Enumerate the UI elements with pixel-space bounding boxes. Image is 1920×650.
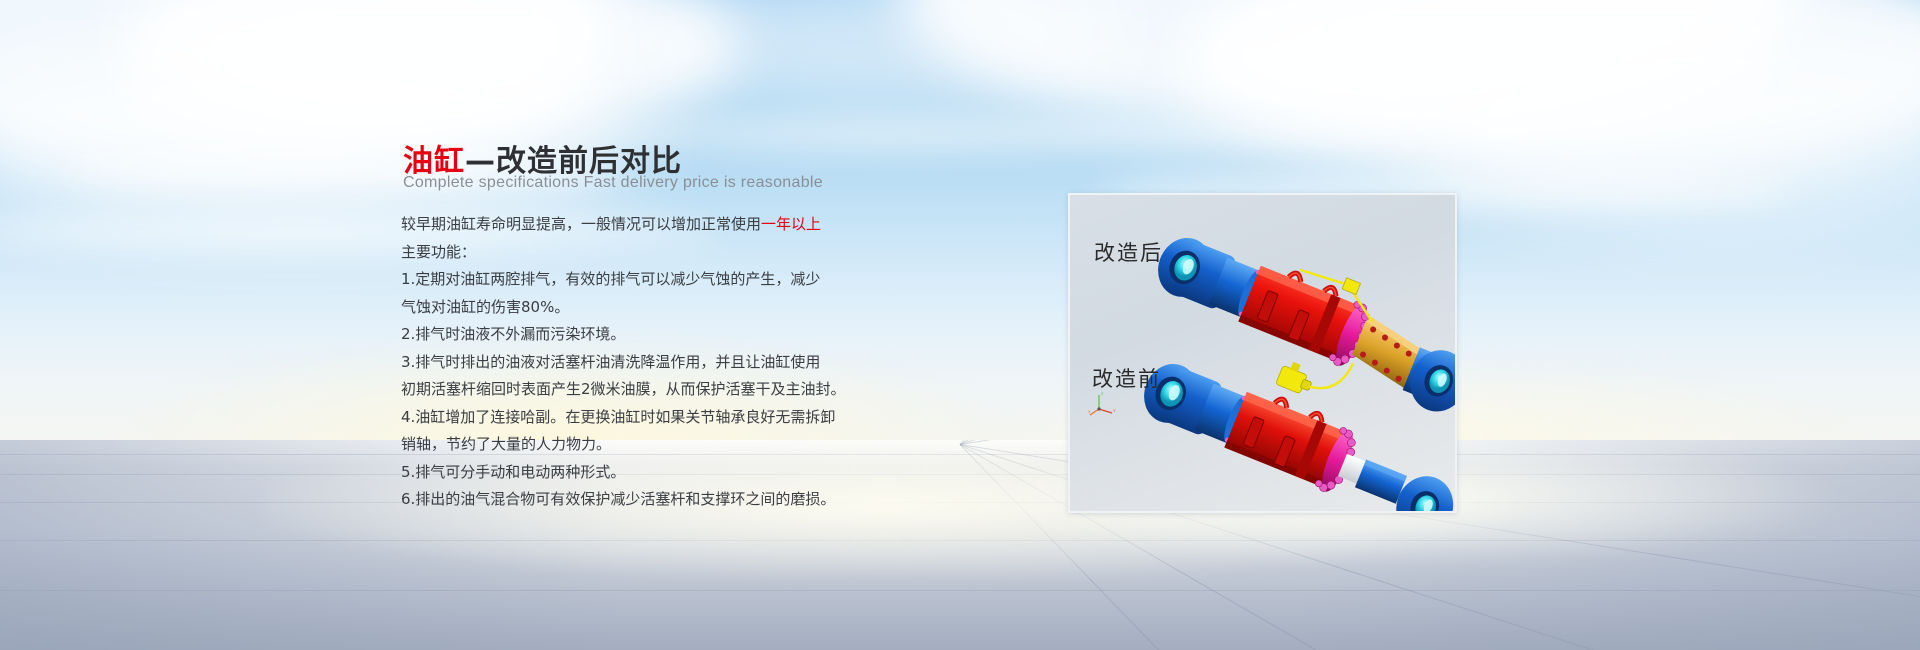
description-line: 4.油缸增加了连接哈副。在更换油缸时如果关节轴承良好无需拆卸 xyxy=(401,404,921,432)
description-line: 1.定期对油缸两腔排气，有效的排气可以减少气蚀的产生，减少 xyxy=(401,266,921,294)
product-image-panel[interactable]: 改造后 改造前 Z X Y xyxy=(1068,193,1457,513)
svg-text:Y: Y xyxy=(1113,408,1116,413)
description-line: 气蚀对油缸的伤害80%。 xyxy=(401,294,921,322)
description-line: 5.排气可分手动和电动两种形式。 xyxy=(401,459,921,487)
description-highlight: 一年以上 xyxy=(761,215,821,233)
description-line: 较早期油缸寿命明显提高，一般情况可以增加正常使用一年以上 xyxy=(401,211,921,239)
coordinate-axis-triad-icon: Z X Y xyxy=(1088,391,1118,417)
description-line: 6.排出的油气混合物可有效保护减少活塞杆和支撑环之间的磨损。 xyxy=(401,486,921,514)
description-line: 主要功能： xyxy=(401,239,921,267)
page-subtitle: Complete specifications Fast delivery pr… xyxy=(403,174,823,192)
banner-content: 油缸—改造前后对比 Complete specifications Fast d… xyxy=(0,0,1920,650)
description-line: 初期活塞杆缩回时表面产生2微米油膜，从而保护活塞干及主油封。 xyxy=(401,376,921,404)
panel-label-after: 改造后 xyxy=(1094,237,1163,267)
feature-description: 较早期油缸寿命明显提高，一般情况可以增加正常使用一年以上 主要功能： 1.定期对… xyxy=(401,211,921,514)
banner-stage: 油缸—改造前后对比 Complete specifications Fast d… xyxy=(0,0,1920,650)
panel-label-before: 改造前 xyxy=(1092,363,1161,393)
description-line: 销轴，节约了大量的人力物力。 xyxy=(401,431,921,459)
svg-text:X: X xyxy=(1088,409,1091,414)
description-line: 3.排气时排出的油液对活塞杆油清洗降温作用，并且让油缸使用 xyxy=(401,349,921,377)
svg-text:Z: Z xyxy=(1101,391,1104,396)
description-line: 2.排气时油液不外漏而污染环境。 xyxy=(401,321,921,349)
